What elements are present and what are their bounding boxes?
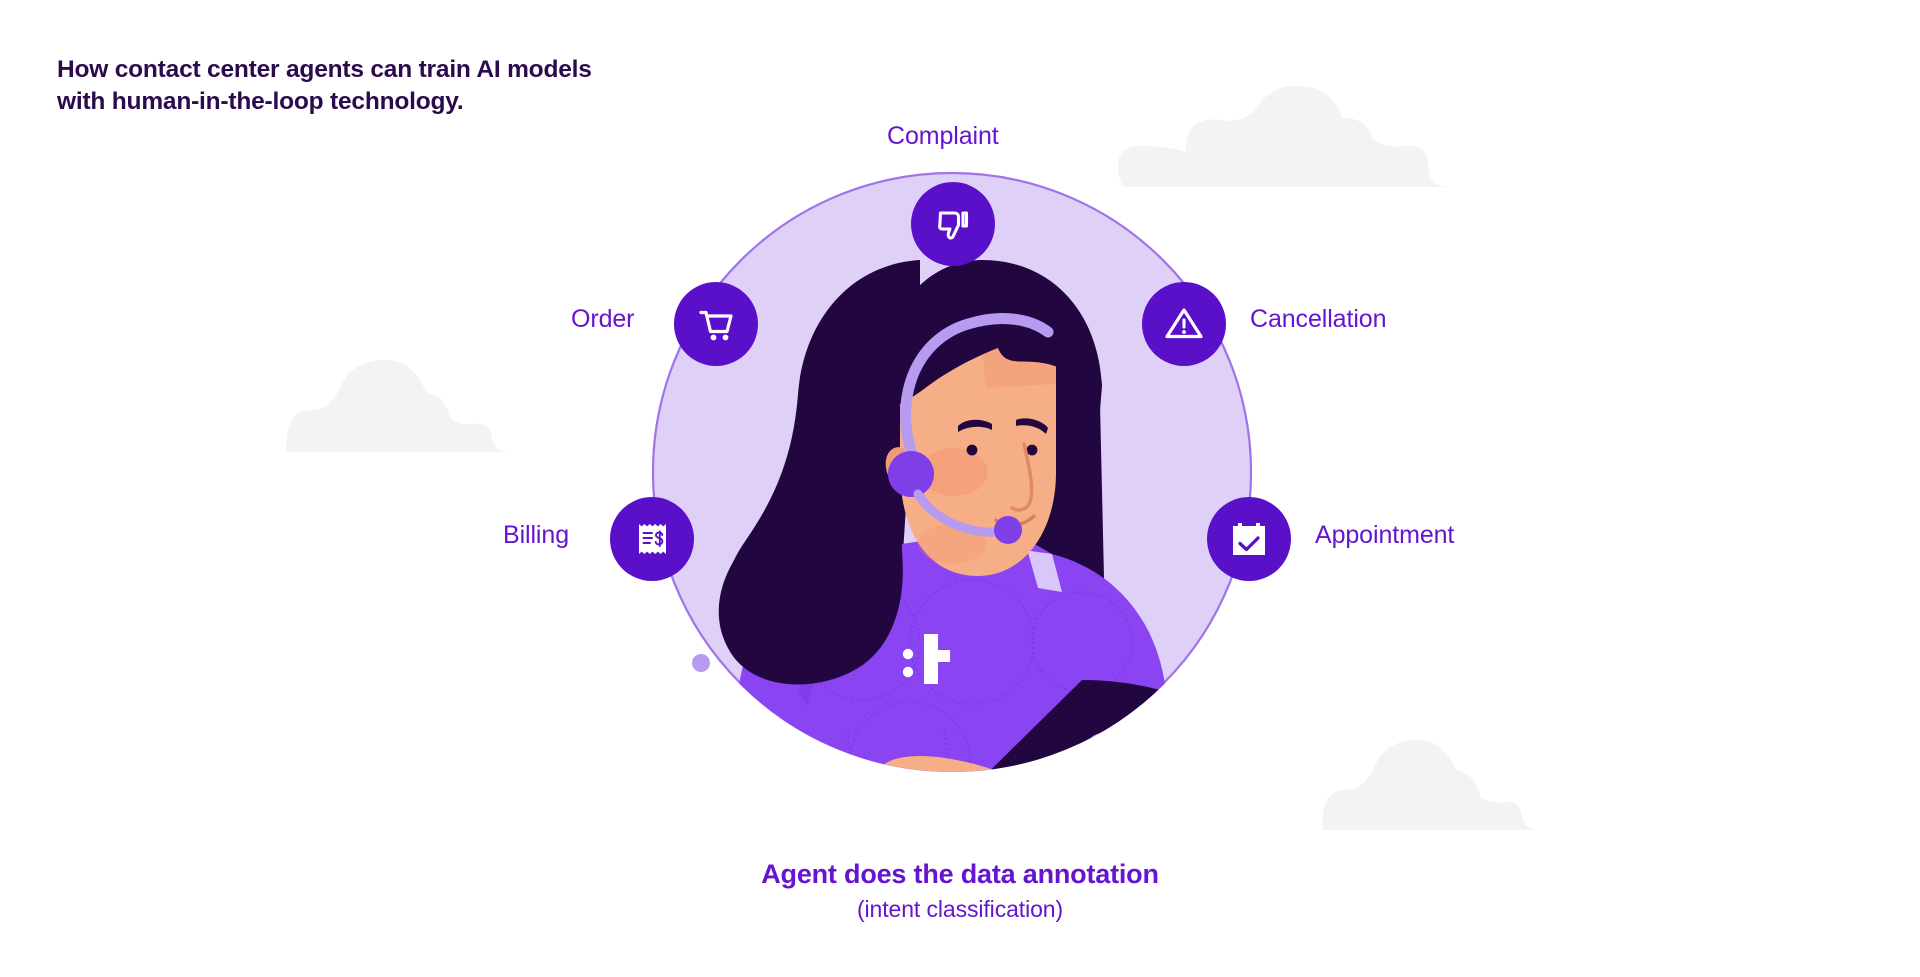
cloud-icon-left [278,352,518,462]
hair-front-left [719,402,903,684]
infographic-canvas: How contact center agents can train AI m… [0,0,1920,977]
receipt-dollar-glyph [631,518,673,560]
shopping-cart-glyph [694,302,738,346]
page-title: How contact center agents can train AI m… [57,54,757,119]
node-label-appointment: Appointment [1315,523,1454,548]
headset-mic-tip [994,516,1022,544]
headset-earcup [888,451,934,497]
node-label-order: Order [571,307,634,332]
thumbs-down-glyph [931,202,975,246]
cloud-icon-bottom-right [1316,734,1546,839]
caption-primary: Agent does the data annotation [0,858,1920,892]
eye-left [967,445,978,456]
node-label-cancellation: Cancellation [1250,307,1386,332]
warning-triangle-icon[interactable] [1142,282,1226,366]
eye-right [1027,445,1038,456]
thumbs-down-icon[interactable] [911,182,995,266]
shopping-cart-icon[interactable] [674,282,758,366]
warning-triangle-glyph [1162,302,1206,346]
calendar-check-glyph [1227,517,1271,561]
caption-block: Agent does the data annotation (intent c… [0,858,1920,925]
node-label-billing: Billing [503,523,569,548]
node-label-complaint: Complaint [887,124,999,149]
receipt-dollar-icon[interactable] [610,497,694,581]
calendar-check-icon[interactable] [1207,497,1291,581]
caption-secondary: (intent classification) [0,895,1920,925]
